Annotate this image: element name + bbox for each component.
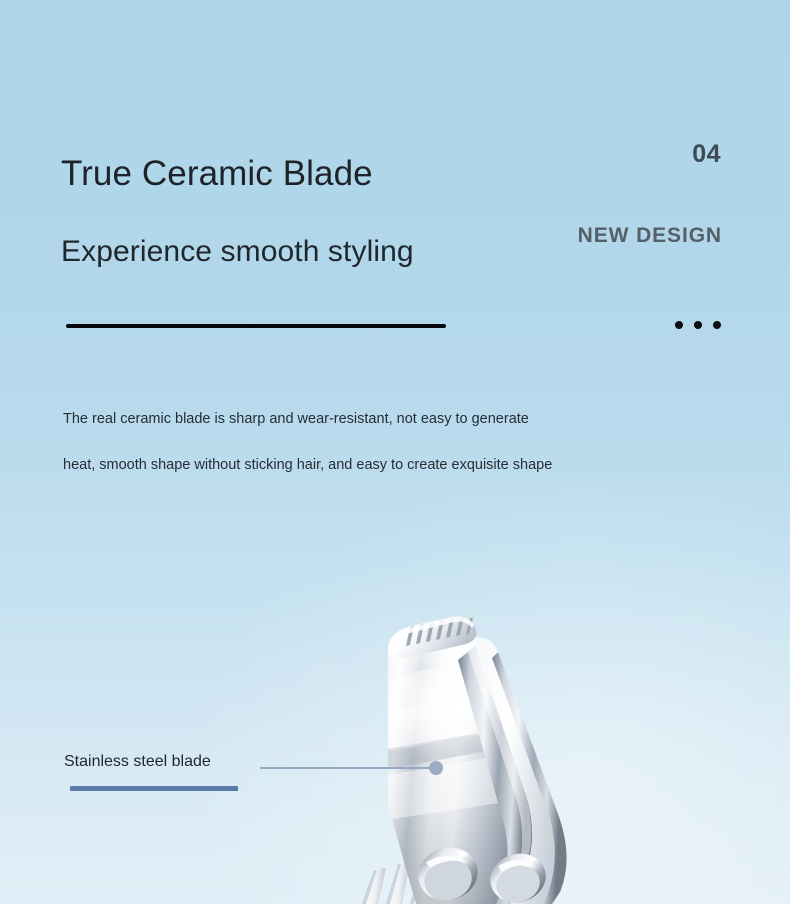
eyebrow-label: NEW DESIGN: [578, 224, 722, 248]
page-subtitle: Experience smooth styling: [61, 232, 414, 272]
pagination-dots: [675, 321, 721, 329]
page-title: True Ceramic Blade: [61, 152, 373, 196]
blade-back-plate: [464, 637, 567, 904]
pagination-dot: [675, 321, 683, 329]
product-feature-slide: True Ceramic Blade Experience smooth sty…: [0, 0, 790, 904]
title-underline-rule: [66, 324, 446, 328]
product-image-blade: [330, 600, 660, 904]
pagination-dot: [713, 321, 721, 329]
blade-top-cap: [388, 616, 476, 658]
callout-leader-line: [260, 767, 432, 769]
callout-leader-dot: [429, 761, 443, 775]
body-copy-line: The real ceramic blade is sharp and wear…: [63, 396, 663, 442]
callout-label: Stainless steel blade: [64, 753, 211, 771]
pagination-dot: [694, 321, 702, 329]
blade-top-slots: [406, 617, 473, 646]
blade-mounting-holes: [412, 841, 552, 904]
body-copy-line: heat, smooth shape without sticking hair…: [63, 442, 663, 488]
body-copy: The real ceramic blade is sharp and wear…: [63, 396, 663, 488]
step-number: 04: [692, 140, 721, 169]
blade-comb-fins: [362, 856, 482, 904]
callout-underline-bar: [70, 786, 238, 791]
